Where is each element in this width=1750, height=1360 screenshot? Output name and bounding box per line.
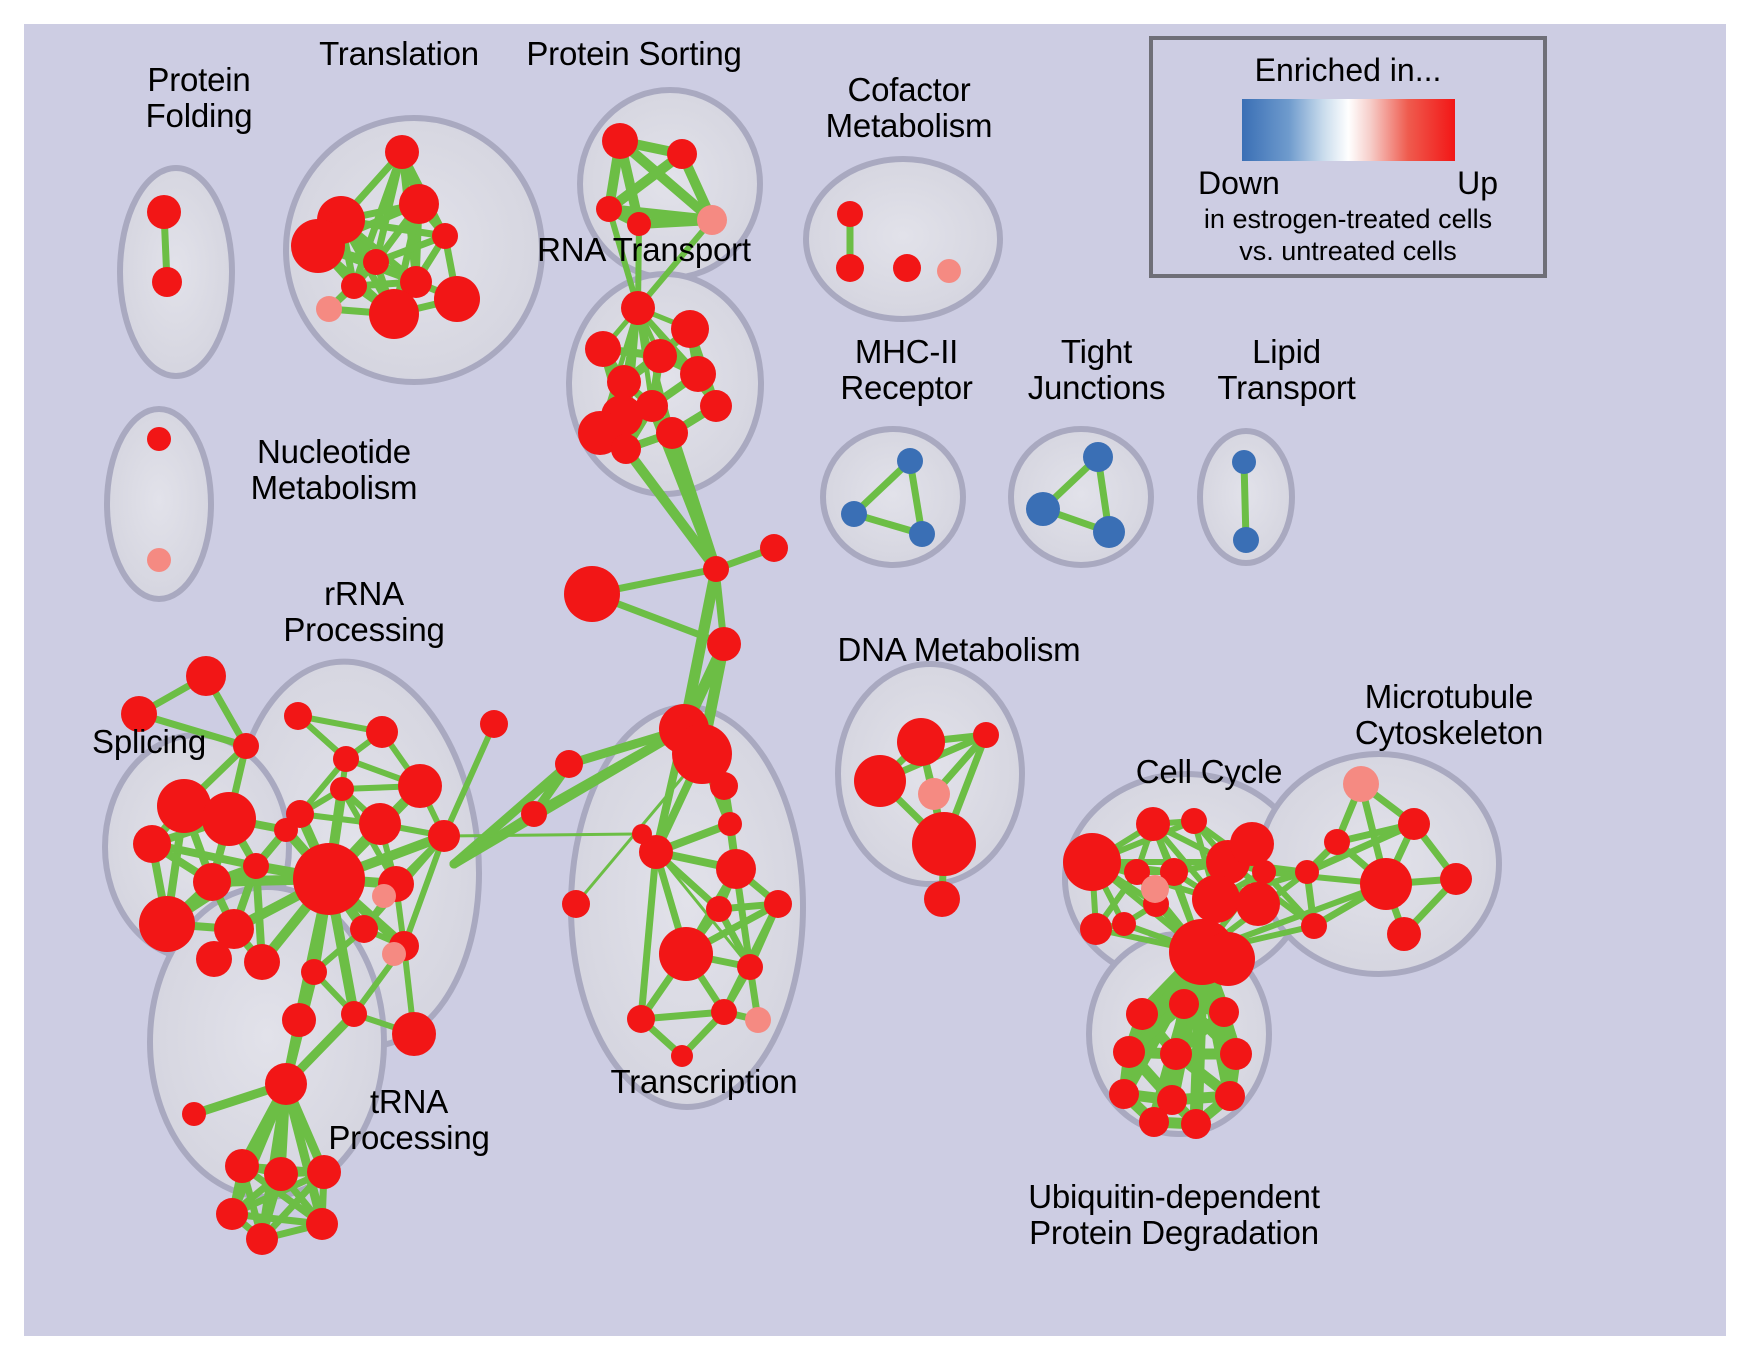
node — [196, 941, 232, 977]
node — [710, 772, 738, 800]
network-canvas: Protein Folding Translation Protein Sort… — [24, 24, 1726, 1336]
node — [521, 801, 547, 827]
node — [1160, 1038, 1192, 1070]
node — [562, 890, 590, 918]
node — [399, 184, 439, 224]
cluster-label-rrna-processing: rRNA Processing — [249, 576, 479, 647]
node — [1230, 822, 1274, 866]
node — [718, 812, 742, 836]
node — [193, 863, 231, 901]
node — [1295, 860, 1319, 884]
node — [307, 1155, 341, 1189]
node — [350, 915, 378, 943]
legend-caption-line1: in estrogen-treated cells — [1204, 204, 1492, 234]
node — [596, 196, 622, 222]
node — [1113, 1036, 1145, 1068]
node — [1136, 807, 1170, 841]
node — [244, 944, 280, 980]
node-down — [897, 448, 923, 474]
node — [333, 746, 359, 772]
node — [667, 139, 697, 169]
node-mid — [382, 942, 406, 966]
node-down — [1026, 492, 1060, 526]
node-mid — [316, 296, 342, 322]
node — [973, 722, 999, 748]
node — [282, 1003, 316, 1037]
node — [1201, 932, 1255, 986]
node-mid — [1141, 875, 1169, 903]
node — [564, 566, 620, 622]
legend-box: Enriched in... Down Up in estrogen-treat… — [1149, 36, 1547, 278]
cluster-label-tight-junctions: Tight Junctions — [989, 334, 1204, 405]
node — [1252, 860, 1276, 884]
node — [602, 123, 638, 159]
node — [707, 627, 741, 661]
node — [1109, 1079, 1139, 1109]
node — [392, 1012, 436, 1056]
node-down — [1083, 442, 1113, 472]
node — [632, 824, 652, 844]
node — [202, 792, 256, 846]
node — [760, 534, 788, 562]
node — [636, 390, 668, 422]
cluster-label-lipid-transport: Lipid Transport — [1179, 334, 1394, 405]
node — [434, 276, 480, 322]
cluster-label-transcription: Transcription — [564, 1064, 844, 1100]
node — [1080, 913, 1112, 945]
node — [1215, 1081, 1245, 1111]
node-mid — [1343, 766, 1379, 802]
node-down — [1232, 450, 1256, 474]
node — [627, 1005, 655, 1033]
node — [656, 417, 688, 449]
node — [291, 219, 345, 273]
node — [341, 273, 367, 299]
cluster-label-splicing: Splicing — [59, 724, 239, 760]
node — [369, 289, 419, 339]
cluster-label-dna-metabolism: DNA Metabolism — [814, 632, 1104, 668]
node — [680, 356, 716, 392]
node — [1398, 808, 1430, 840]
node — [1126, 998, 1158, 1030]
cluster-label-mhc-ii-receptor: MHC-II Receptor — [799, 334, 1014, 405]
node-mid — [372, 884, 396, 908]
node — [706, 896, 732, 922]
node — [428, 820, 460, 852]
cluster-label-cofactor-metabolism: Cofactor Metabolism — [784, 72, 1034, 143]
node — [306, 1208, 338, 1240]
node — [225, 1149, 259, 1183]
node — [1220, 1038, 1252, 1070]
blob-cofactor — [806, 159, 1000, 319]
cluster-label-trna-processing: tRNA Processing — [294, 1084, 524, 1155]
node — [182, 1102, 206, 1126]
node — [643, 339, 677, 373]
cluster-label-ubiquitin-protein-degradation: Ubiquitin-dependent Protein Degradation — [974, 1179, 1374, 1250]
node — [1209, 997, 1239, 1027]
node — [893, 254, 921, 282]
node — [398, 764, 442, 808]
node — [1181, 1109, 1211, 1139]
node — [607, 365, 641, 399]
legend-caption-line2: vs. untreated cells — [1239, 236, 1457, 266]
node — [330, 777, 354, 801]
blob-mhcii — [823, 429, 963, 565]
node — [139, 896, 195, 952]
node — [1169, 989, 1199, 1019]
node — [385, 135, 419, 169]
node — [363, 249, 389, 275]
node — [301, 959, 327, 985]
legend-endpoints: Down Up — [1198, 165, 1498, 202]
node — [1192, 875, 1240, 923]
node — [216, 1198, 248, 1230]
node — [480, 710, 508, 738]
node — [621, 291, 655, 325]
node — [359, 803, 401, 845]
node — [737, 954, 763, 980]
node — [1063, 833, 1121, 891]
node — [1181, 808, 1207, 834]
legend-color-gradient-bar — [1242, 99, 1455, 161]
blob-rna-transport — [569, 274, 761, 494]
node — [432, 223, 458, 249]
node — [924, 881, 960, 917]
node — [1236, 882, 1280, 926]
node — [366, 716, 398, 748]
node — [854, 755, 906, 807]
cluster-label-rna-transport: RNA Transport — [504, 232, 784, 268]
node — [264, 1157, 298, 1191]
node-down — [841, 501, 867, 527]
node — [912, 812, 976, 876]
node — [837, 201, 863, 227]
node — [659, 927, 713, 981]
cluster-label-protein-folding: Protein Folding — [89, 62, 309, 133]
node-down — [909, 521, 935, 547]
node — [700, 390, 732, 422]
node — [284, 702, 312, 730]
node — [133, 825, 171, 863]
legend-label-down: Down — [1198, 165, 1280, 202]
node-mid — [937, 259, 961, 283]
node — [836, 254, 864, 282]
cluster-label-protein-sorting: Protein Sorting — [494, 36, 774, 72]
cluster-label-microtubule-cytoskeleton: Microtubule Cytoskeleton — [1294, 679, 1604, 750]
node — [703, 556, 729, 582]
node-mid — [918, 778, 950, 810]
node — [611, 434, 641, 464]
node — [1440, 863, 1472, 895]
legend-title: Enriched in... — [1255, 52, 1442, 89]
node — [1387, 917, 1421, 951]
node — [716, 849, 756, 889]
legend-label-up: Up — [1457, 165, 1498, 202]
node — [246, 1223, 278, 1255]
node — [341, 1001, 367, 1027]
node — [764, 890, 792, 918]
node — [293, 843, 365, 915]
node — [1301, 913, 1327, 939]
node — [152, 267, 182, 297]
node — [286, 800, 314, 828]
node — [1139, 1107, 1169, 1137]
node-down — [1233, 527, 1259, 553]
node — [585, 331, 621, 367]
node-down — [1093, 516, 1125, 548]
cluster-label-cell-cycle: Cell Cycle — [1094, 754, 1324, 790]
node — [1112, 912, 1136, 936]
node — [555, 750, 583, 778]
node — [147, 427, 171, 451]
cluster-label-translation: Translation — [274, 36, 524, 72]
node — [711, 999, 737, 1025]
cluster-label-nucleotide-metabolism: Nucleotide Metabolism — [199, 434, 469, 505]
node — [147, 195, 181, 229]
node — [243, 853, 269, 879]
node — [671, 310, 709, 348]
node-mid — [745, 1007, 771, 1033]
node — [1324, 829, 1350, 855]
node — [186, 656, 226, 696]
node — [897, 718, 945, 766]
node — [1360, 858, 1412, 910]
figure-root: Protein Folding Translation Protein Sort… — [0, 0, 1750, 1360]
node-mid — [147, 548, 171, 572]
